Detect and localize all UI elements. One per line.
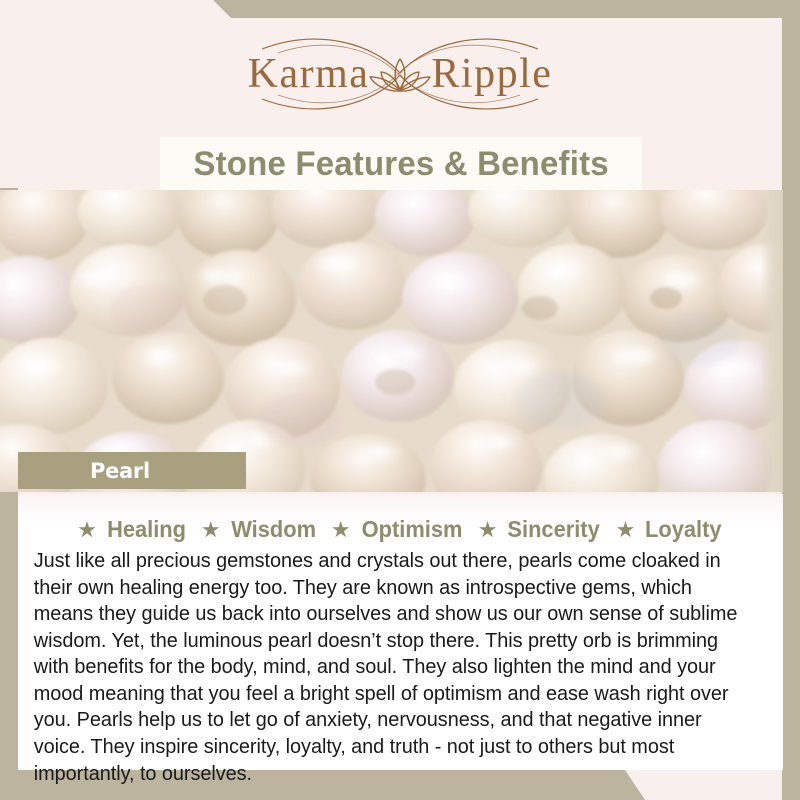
keyword-label: Loyalty: [645, 516, 722, 543]
brand-logo: Karma Ripple: [0, 28, 800, 120]
stone-description: Just like all precious gemstones and cry…: [18, 543, 772, 787]
keyword-item-sincerity: ★ Sincerity: [478, 516, 603, 543]
infographic-page: Karma Ripple Stone Features & Benefits: [0, 0, 800, 800]
keyword-label: Optimism: [361, 516, 462, 543]
stone-name-tag: Pearl: [18, 452, 246, 489]
star-icon: ★: [201, 519, 221, 541]
logo-word-ripple: Ripple: [431, 53, 552, 95]
keyword-item-wisdom: ★ Wisdom: [201, 516, 318, 543]
frame-band-top: [0, 0, 800, 18]
keyword-label: Sincerity: [508, 516, 600, 543]
logo-word-karma: Karma: [248, 53, 370, 95]
page-title-banner: Stone Features & Benefits: [160, 137, 642, 192]
star-icon: ★: [478, 519, 498, 541]
keyword-item-healing: ★ Healing: [77, 516, 188, 543]
stone-name-label: Pearl: [90, 459, 150, 483]
keyword-item-loyalty: ★ Loyalty: [616, 516, 724, 543]
frame-band-right: [782, 0, 800, 800]
star-icon: ★: [77, 519, 97, 541]
star-icon: ★: [616, 519, 636, 541]
page-title: Stone Features & Benefits: [193, 145, 608, 184]
content-card: ★ Healing ★ Wisdom ★ Optimism ★ Sincerit…: [18, 494, 783, 770]
keyword-list: ★ Healing ★ Wisdom ★ Optimism ★ Sincerit…: [18, 494, 783, 543]
lotus-icon: [367, 52, 433, 100]
keyword-item-optimism: ★ Optimism: [331, 516, 465, 543]
keyword-label: Healing: [107, 516, 186, 543]
photo-right-fade: [760, 190, 783, 492]
keyword-label: Wisdom: [231, 516, 316, 543]
pearl-photo: [0, 190, 783, 492]
star-icon: ★: [331, 519, 351, 541]
